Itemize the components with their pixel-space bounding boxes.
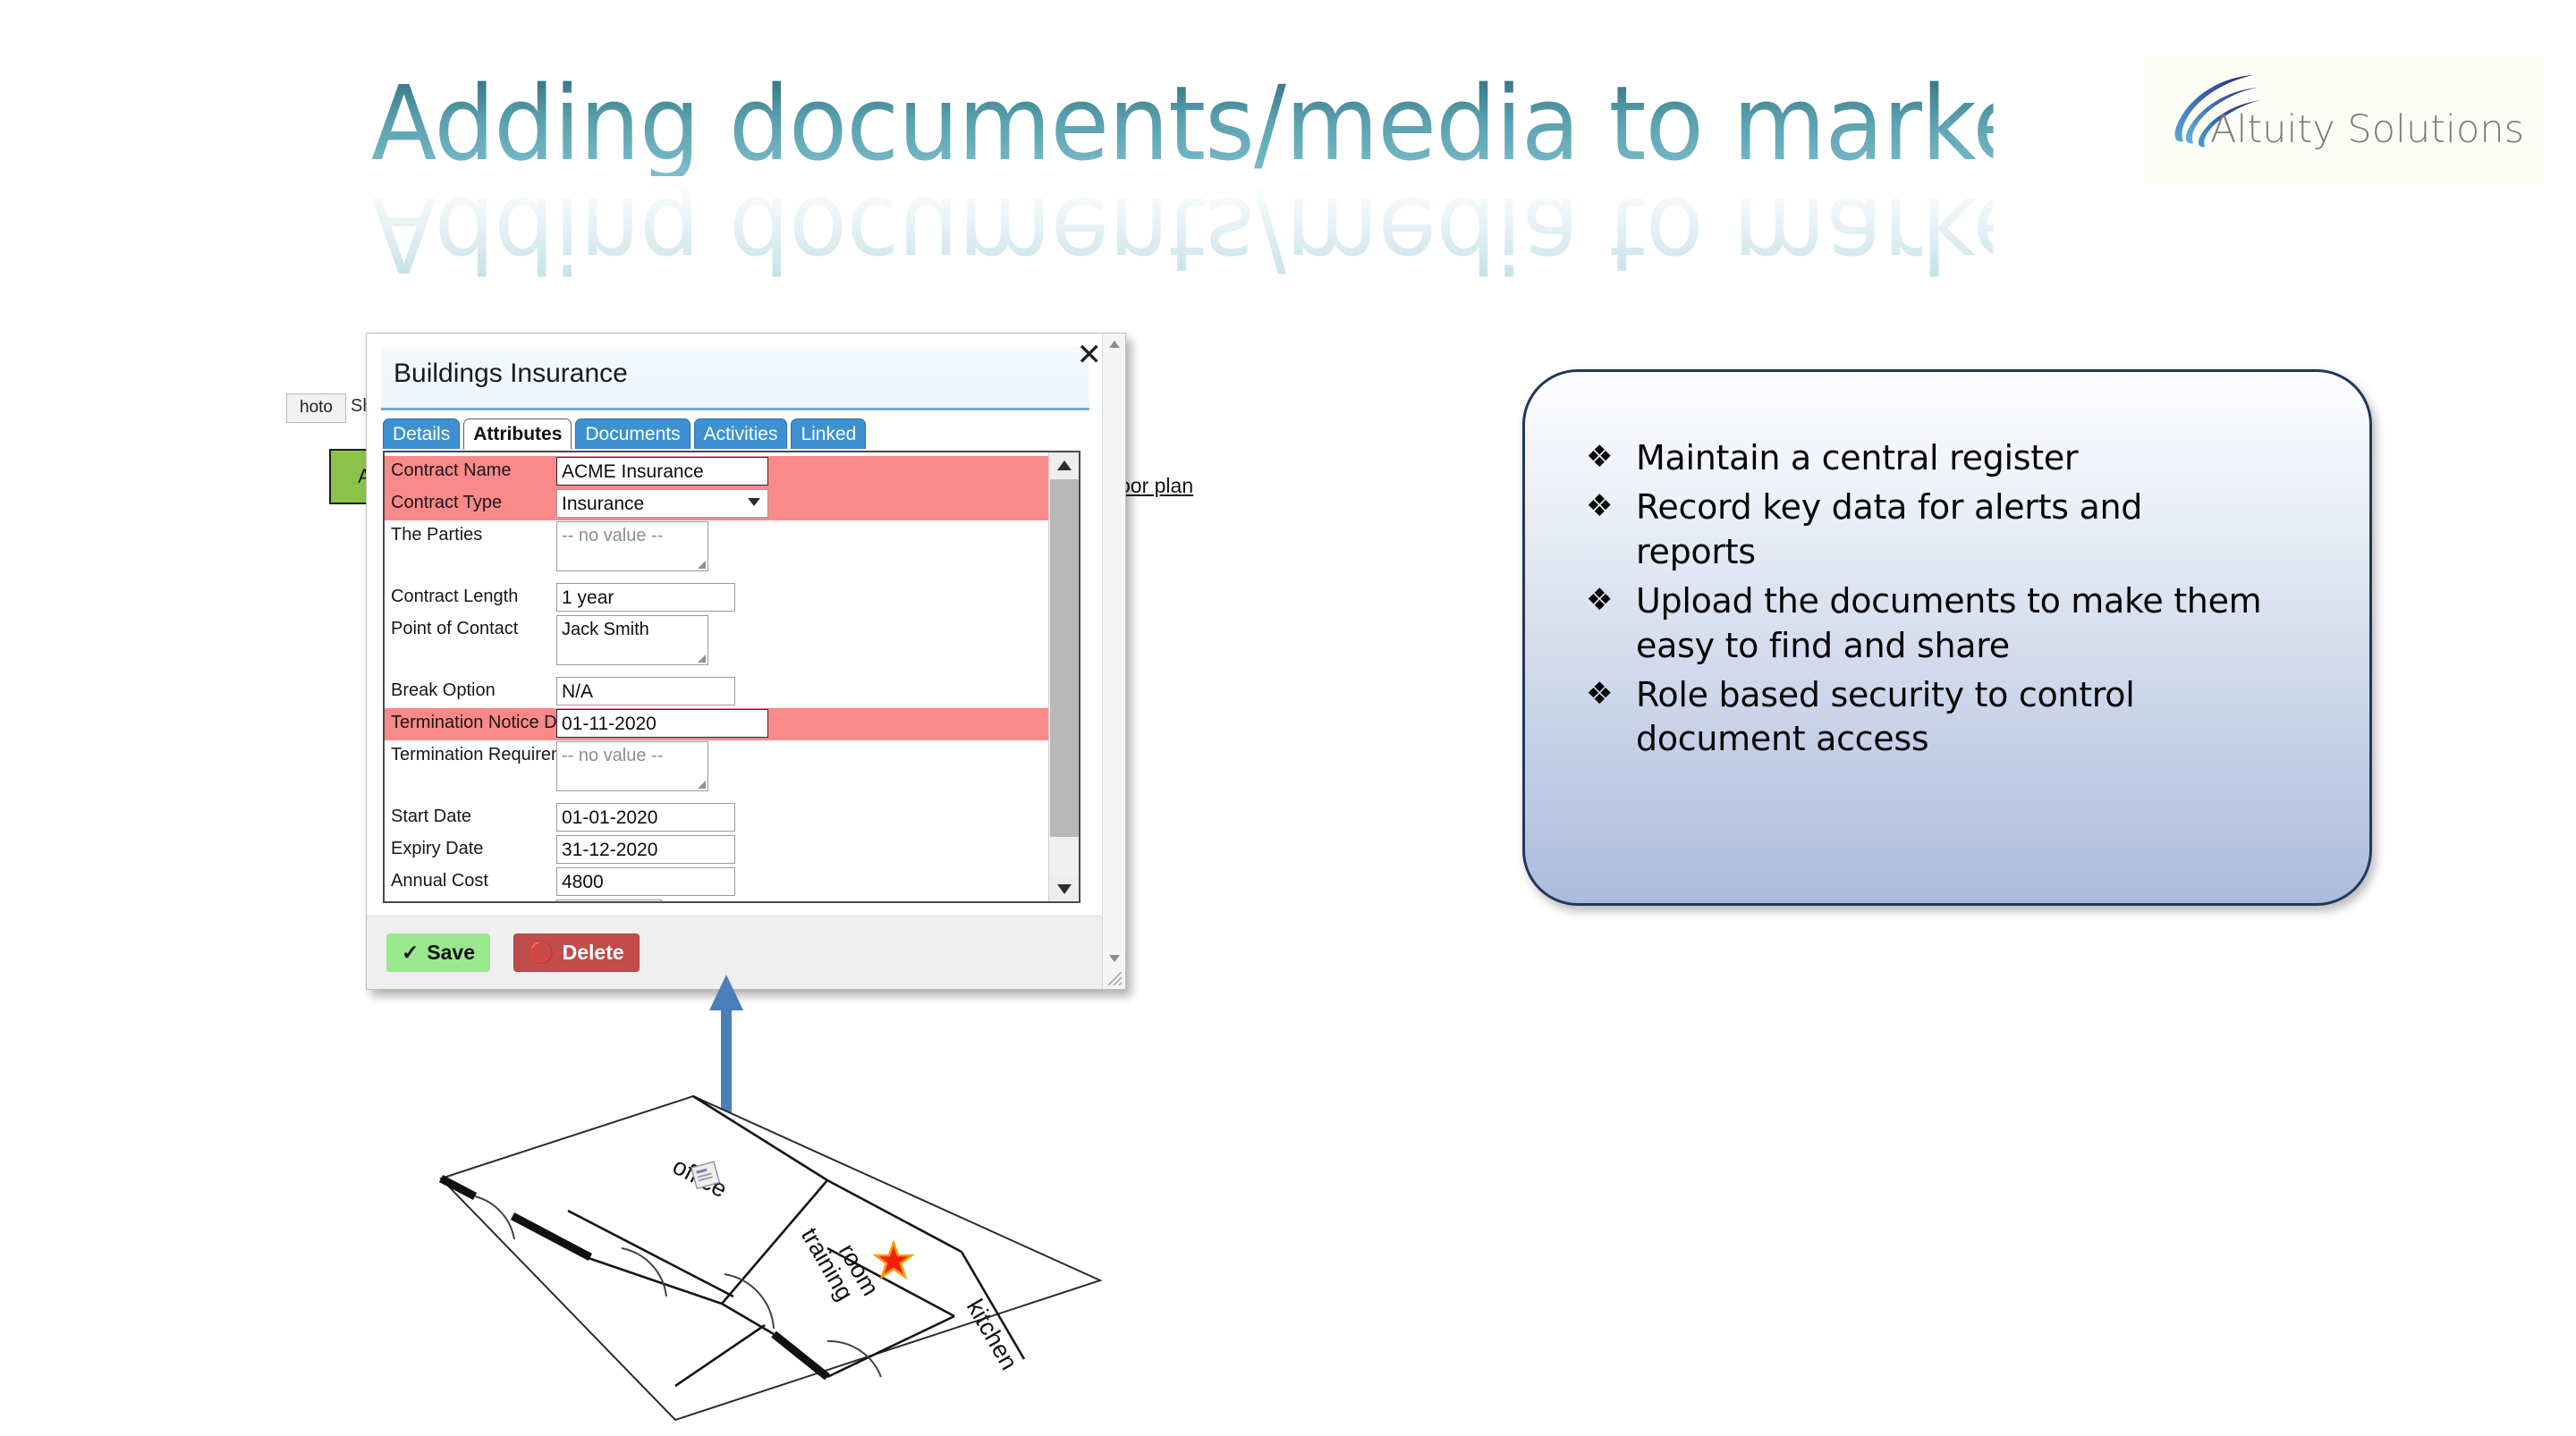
- select-value: Insurance: [562, 494, 644, 514]
- scrollbar-thumb[interactable]: [1050, 479, 1079, 837]
- field-label: Termination Notice Date: [385, 708, 556, 733]
- no-entry-icon: 🚫: [529, 941, 555, 965]
- dialog-header: Buildings Insurance: [381, 346, 1089, 410]
- list-item: ❖ Role based security to control documen…: [1586, 673, 2334, 762]
- bullet-text: Role based security to control document …: [1636, 673, 2262, 762]
- dialog-scroll-down-icon[interactable]: [1103, 948, 1126, 969]
- scroll-down-icon[interactable]: [1049, 876, 1080, 901]
- tab-documents[interactable]: Documents: [575, 418, 690, 449]
- contract-type-select[interactable]: Insurance: [556, 489, 768, 518]
- expiry-date-input[interactable]: 31-12-2020: [556, 835, 735, 864]
- dialog-title: Buildings Insurance: [394, 359, 628, 389]
- record-dialog: Buildings Insurance ✕ Details Attributes…: [366, 333, 1126, 990]
- field-row-expiry-date: Expiry Date 31-12-2020: [385, 834, 1048, 866]
- resize-grip-icon[interactable]: [1106, 969, 1123, 987]
- field-row-contract-name: Contract Name ACME Insurance: [385, 456, 1048, 488]
- point-of-contact-textarea[interactable]: Jack Smith: [556, 615, 708, 665]
- field-label: Auto Renewal: [385, 899, 556, 903]
- auto-renewal-select[interactable]: No: [556, 900, 662, 903]
- field-label: Expiry Date: [385, 834, 556, 859]
- termination-requirements-textarea[interactable]: -- no value --: [556, 741, 708, 791]
- delete-button[interactable]: 🚫 Delete: [513, 933, 640, 972]
- field-row-the-parties: The Parties -- no value --: [385, 520, 1048, 574]
- field-label: The Parties: [385, 520, 556, 545]
- floor-plan-diagram[interactable]: office training room kitchen: [407, 1082, 1114, 1422]
- attributes-form: Contract Name ACME Insurance Contract Ty…: [385, 452, 1048, 903]
- diamond-bullet-icon: ❖: [1586, 579, 1636, 621]
- attributes-form-panel: Contract Name ACME Insurance Contract Ty…: [383, 451, 1080, 903]
- diamond-bullet-icon: ❖: [1586, 486, 1636, 528]
- brand-logo: Altuity Solutions: [2144, 55, 2545, 183]
- the-parties-textarea[interactable]: -- no value --: [556, 521, 708, 571]
- field-row-auto-renewal: Auto Renewal No: [385, 899, 1048, 903]
- form-scrollbar[interactable]: [1048, 452, 1079, 901]
- field-label: Contract Length: [385, 582, 556, 607]
- close-icon[interactable]: ✕: [1077, 340, 1103, 370]
- field-row-termination-notice-date: Termination Notice Date 01-11-2020: [385, 708, 1048, 740]
- check-icon: ✓: [402, 941, 419, 965]
- photo-button[interactable]: hoto: [286, 393, 346, 423]
- field-label: Break Option: [385, 676, 556, 701]
- scroll-up-icon[interactable]: [1049, 452, 1080, 477]
- page-title: Adding documents/media to markers: [371, 73, 1994, 176]
- floor-plan-link[interactable]: oor plan: [1119, 474, 1193, 498]
- chevron-down-icon: [748, 498, 760, 506]
- field-row-start-date: Start Date 01-01-2020: [385, 802, 1048, 834]
- field-label: Contract Type: [385, 488, 556, 513]
- field-label: Annual Cost: [385, 866, 556, 891]
- field-row-contract-length: Contract Length 1 year: [385, 582, 1048, 614]
- start-date-input[interactable]: 01-01-2020: [556, 803, 735, 832]
- list-item: ❖ Upload the documents to make them easy…: [1586, 579, 2334, 668]
- field-label: Start Date: [385, 802, 556, 827]
- slide-canvas: Adding documents/media to markers Adding…: [0, 0, 2576, 1436]
- dialog-scroll-up-icon[interactable]: [1103, 334, 1126, 355]
- field-row-annual-cost: Annual Cost 4800: [385, 866, 1048, 899]
- benefits-callout: ❖ Maintain a central register ❖ Record k…: [1522, 369, 2372, 906]
- tab-linked[interactable]: Linked: [791, 418, 866, 449]
- contract-name-input[interactable]: ACME Insurance: [556, 457, 768, 486]
- field-label: Termination Requirements: [385, 740, 556, 765]
- save-button[interactable]: ✓ Save: [386, 933, 490, 972]
- save-button-label: Save: [427, 941, 475, 965]
- slide-title-block: Adding documents/media to markers Adding…: [371, 73, 2115, 234]
- field-row-termination-requirements: Termination Requirements -- no value --: [385, 740, 1048, 794]
- break-option-input[interactable]: N/A: [556, 677, 735, 705]
- tab-attributes[interactable]: Attributes: [463, 418, 572, 450]
- contract-length-input[interactable]: 1 year: [556, 583, 735, 612]
- termination-notice-date-input[interactable]: 01-11-2020: [556, 709, 768, 738]
- tab-activities[interactable]: Activities: [694, 418, 788, 449]
- diamond-bullet-icon: ❖: [1586, 673, 1636, 715]
- logo-wordmark: Altuity Solutions: [2210, 107, 2524, 152]
- page-title-reflection: Adding documents/media to markers: [371, 182, 1994, 284]
- bullet-text: Record key data for alerts and reports: [1636, 486, 2262, 574]
- bullet-text: Upload the documents to make them easy t…: [1636, 579, 2262, 668]
- field-row-point-of-contact: Point of Contact Jack Smith: [385, 614, 1048, 668]
- bullet-text: Maintain a central register: [1636, 436, 2078, 480]
- field-label: Point of Contact: [385, 614, 556, 639]
- field-row-contract-type: Contract Type Insurance: [385, 488, 1048, 520]
- field-label: Contract Name: [385, 456, 556, 481]
- diamond-bullet-icon: ❖: [1586, 436, 1636, 478]
- dialog-scrollbar[interactable]: [1102, 334, 1125, 989]
- list-item: ❖ Record key data for alerts and reports: [1586, 486, 2334, 574]
- annual-cost-input[interactable]: 4800: [556, 867, 735, 896]
- dialog-tabs: Details Attributes Documents Activities …: [383, 418, 866, 449]
- list-item: ❖ Maintain a central register: [1586, 436, 2334, 480]
- tab-details[interactable]: Details: [383, 418, 460, 449]
- delete-button-label: Delete: [563, 941, 624, 965]
- field-row-break-option: Break Option N/A: [385, 676, 1048, 708]
